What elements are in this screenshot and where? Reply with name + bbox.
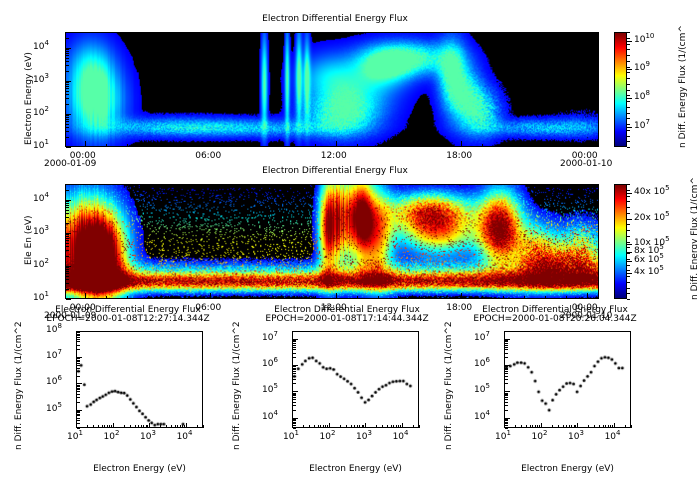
- y-minor-tick: [505, 369, 508, 370]
- y-tick-label: 107: [474, 333, 490, 343]
- x-minor-tick: [124, 425, 125, 428]
- x-tick-label: 101: [67, 432, 83, 442]
- y-minor-tick: [77, 339, 80, 340]
- colorbar-minor-tick: [627, 242, 630, 243]
- x-minor-tick: [210, 144, 211, 147]
- y-minor-tick: [77, 376, 80, 377]
- colorbar-tick-label: 40x 105: [634, 187, 670, 197]
- x-minor-tick: [521, 425, 522, 428]
- y-minor-tick: [66, 38, 69, 39]
- colorbar-minor-tick: [627, 38, 630, 39]
- colorbar-minor-tick: [627, 95, 630, 96]
- y-minor-tick: [293, 349, 296, 350]
- colorbar-tick-label: 10x 105: [634, 238, 670, 248]
- colorbar-minor-tick: [627, 61, 630, 62]
- panel4-epoch: EPOCH=2000-01-08T17:14:44.344Z: [252, 314, 442, 324]
- x-minor-tick: [315, 296, 316, 299]
- y-minor-tick: [77, 361, 80, 362]
- y-tick-label: 105: [46, 404, 62, 414]
- y-minor-tick: [505, 340, 508, 341]
- x-minor-tick: [378, 144, 379, 147]
- x-minor-tick: [419, 296, 420, 299]
- y-minor-tick: [66, 238, 69, 239]
- y-minor-tick: [77, 337, 80, 338]
- y-minor-tick: [293, 353, 296, 354]
- x-minor-tick: [231, 144, 232, 147]
- x-minor-tick: [539, 425, 540, 428]
- y-minor-tick: [505, 383, 508, 384]
- y-minor-tick: [505, 420, 508, 421]
- colorbar-minor-tick: [627, 101, 630, 102]
- x-minor-tick: [515, 425, 516, 428]
- y-minor-tick: [505, 393, 508, 394]
- y-minor-tick: [66, 269, 69, 270]
- panel1-plot-area: [65, 32, 599, 147]
- colorbar-tick-mark: [627, 98, 632, 99]
- colorbar-minor-tick: [627, 190, 630, 191]
- y-minor-tick: [66, 82, 69, 83]
- x-minor-tick: [325, 425, 326, 428]
- y-minor-tick: [77, 358, 80, 359]
- x-minor-tick: [135, 425, 136, 428]
- y-tick-label: 105: [474, 385, 490, 395]
- x-minor-tick: [127, 144, 128, 147]
- colorbar-minor-tick: [627, 224, 630, 225]
- y-minor-tick: [77, 388, 80, 389]
- x-minor-tick: [398, 296, 399, 299]
- x-minor-tick: [138, 425, 139, 428]
- x-minor-tick: [400, 425, 401, 428]
- x-minor-tick: [177, 425, 178, 428]
- colorbar-minor-tick: [627, 78, 630, 79]
- colorbar-minor-tick: [627, 236, 630, 237]
- y-minor-tick: [66, 223, 69, 224]
- y-minor-tick: [293, 347, 296, 348]
- y-minor-tick: [505, 395, 508, 396]
- x-minor-tick: [231, 296, 232, 299]
- y-minor-tick: [293, 373, 296, 374]
- y-minor-tick: [66, 276, 69, 277]
- y-minor-tick: [66, 283, 69, 284]
- y-minor-tick: [77, 386, 80, 387]
- colorbar-tick-label: 109: [634, 63, 650, 73]
- x-tick-label: 102: [104, 432, 120, 442]
- colorbar-tick-mark: [627, 69, 632, 70]
- y-minor-tick: [77, 415, 80, 416]
- colorbar-minor-tick: [627, 196, 630, 197]
- x-tick-mark: [504, 423, 505, 428]
- y-minor-tick: [66, 203, 69, 204]
- x-minor-tick: [566, 144, 567, 147]
- x-tick-mark: [541, 423, 542, 428]
- x-minor-tick: [107, 425, 108, 428]
- x-minor-tick: [106, 144, 107, 147]
- y-minor-tick: [293, 357, 296, 358]
- y-minor-tick: [505, 422, 508, 423]
- y-minor-tick: [505, 402, 508, 403]
- y-minor-tick: [505, 331, 508, 332]
- x-tick-mark: [186, 423, 187, 428]
- y-minor-tick: [293, 376, 296, 377]
- y-minor-tick: [77, 420, 80, 421]
- panel1-title: Electron Differential Energy Flux: [70, 14, 600, 24]
- colorbar-tick-mark: [627, 273, 632, 274]
- colorbar-minor-tick: [627, 107, 630, 108]
- x-minor-tick: [273, 296, 274, 299]
- colorbar-minor-tick: [627, 55, 630, 56]
- x-tick-label: 102: [320, 432, 336, 442]
- x-minor-tick: [530, 425, 531, 428]
- x-minor-tick: [294, 296, 295, 299]
- y-minor-tick: [66, 51, 69, 52]
- y-minor-tick: [293, 425, 296, 426]
- y-minor-tick: [66, 184, 69, 185]
- y-minor-tick: [77, 414, 80, 415]
- x-tick-label: 103: [140, 432, 156, 442]
- y-minor-tick: [505, 419, 508, 420]
- panel4-ylabel: n Diff. Energy Flux (1/(cm^2: [232, 321, 242, 450]
- y-minor-tick: [293, 423, 296, 424]
- y-minor-tick: [66, 131, 69, 132]
- y-minor-tick: [505, 366, 508, 367]
- x-minor-tick: [387, 425, 388, 428]
- y-minor-tick: [66, 91, 69, 92]
- x-minor-tick: [171, 425, 172, 428]
- x-tick-mark: [76, 423, 77, 428]
- panel1-ylabel: Electron Energy (eV): [24, 52, 34, 145]
- colorbar-minor-tick: [627, 207, 630, 208]
- y-minor-tick: [66, 279, 69, 280]
- x-tick-label: 101: [495, 432, 511, 442]
- x-minor-tick: [160, 425, 161, 428]
- y-minor-tick: [293, 422, 296, 423]
- x-minor-tick: [376, 425, 377, 428]
- x-minor-tick: [461, 296, 462, 299]
- x-minor-tick: [346, 425, 347, 428]
- x-minor-tick: [87, 425, 88, 428]
- x-minor-tick: [98, 425, 99, 428]
- colorbar-minor-tick: [627, 124, 630, 125]
- x-minor-tick: [85, 296, 86, 299]
- x-minor-tick: [398, 425, 399, 428]
- y-minor-tick: [293, 383, 296, 384]
- x-minor-tick: [363, 425, 364, 428]
- y-minor-tick: [505, 423, 508, 424]
- y-minor-tick: [293, 369, 296, 370]
- x-minor-tick: [393, 425, 394, 428]
- x-minor-tick: [563, 425, 564, 428]
- x-minor-tick: [309, 425, 310, 428]
- colorbar-minor-tick: [627, 136, 630, 137]
- x-minor-tick: [314, 425, 315, 428]
- y-minor-tick: [77, 389, 80, 390]
- colorbar-minor-tick: [627, 84, 630, 85]
- x-minor-tick: [148, 144, 149, 147]
- y-minor-tick: [66, 236, 69, 237]
- y-minor-tick: [66, 119, 69, 120]
- colorbar-minor-tick: [627, 32, 630, 33]
- y-minor-tick: [293, 368, 296, 369]
- panel3-ylabel: n Diff. Energy Flux (1/(cm^2: [14, 321, 24, 450]
- y-minor-tick: [505, 343, 508, 344]
- y-tick-label: 106: [262, 359, 278, 369]
- panel2-colorbar-label: n Diff. Energy Flux (1/(cm^: [690, 177, 697, 300]
- x-minor-tick: [362, 425, 363, 428]
- x-minor-tick: [354, 425, 355, 428]
- x-minor-tick: [175, 425, 176, 428]
- x-minor-tick: [625, 425, 626, 428]
- x-minor-tick: [184, 425, 185, 428]
- x-minor-tick: [535, 425, 536, 428]
- y-tick-label: 101: [33, 141, 49, 151]
- colorbar-minor-tick: [627, 113, 630, 114]
- y-minor-tick: [66, 124, 69, 125]
- x-minor-tick: [571, 425, 572, 428]
- x-minor-tick: [398, 144, 399, 147]
- x-minor-tick: [631, 425, 632, 428]
- y-minor-tick: [66, 207, 69, 208]
- colorbar-minor-tick: [627, 230, 630, 231]
- y-minor-tick: [66, 210, 69, 211]
- colorbar-minor-tick: [627, 118, 630, 119]
- x-minor-tick: [303, 425, 304, 428]
- panel2-ylabel: Ele En (eV): [24, 215, 34, 265]
- y-minor-tick: [66, 104, 69, 105]
- y-minor-tick: [505, 373, 508, 374]
- y-minor-tick: [66, 71, 69, 72]
- y-minor-tick: [293, 341, 296, 342]
- colorbar-tick-label: 4x 105: [634, 267, 664, 277]
- colorbar-minor-tick: [627, 265, 630, 266]
- x-minor-tick: [503, 296, 504, 299]
- y-minor-tick: [66, 240, 69, 241]
- x-minor-tick: [357, 296, 358, 299]
- colorbar-minor-tick: [627, 288, 630, 289]
- y-minor-tick: [293, 395, 296, 396]
- y-minor-tick: [66, 243, 69, 244]
- x-minor-tick: [566, 425, 567, 428]
- colorbar-minor-tick: [627, 201, 630, 202]
- y-tick-label: 105: [262, 385, 278, 395]
- y-minor-tick: [77, 365, 80, 366]
- x-minor-tick: [440, 144, 441, 147]
- colorbar-minor-tick: [627, 253, 630, 254]
- panel3-plot-area: [76, 331, 203, 428]
- y-minor-tick: [77, 371, 80, 372]
- x-minor-tick: [569, 425, 570, 428]
- y-minor-tick: [293, 343, 296, 344]
- y-minor-tick: [77, 411, 80, 412]
- x-minor-tick: [327, 425, 328, 428]
- x-minor-tick: [461, 144, 462, 147]
- y-minor-tick: [505, 410, 508, 411]
- panel1-colorbar: [614, 32, 627, 147]
- x-minor-tick: [608, 425, 609, 428]
- x-minor-tick: [552, 425, 553, 428]
- x-minor-tick: [336, 296, 337, 299]
- y-minor-tick: [505, 353, 508, 354]
- x-minor-tick: [391, 425, 392, 428]
- x-minor-tick: [143, 425, 144, 428]
- panel4-xlabel: Electron Energy (eV): [292, 464, 419, 474]
- y-minor-tick: [66, 246, 69, 247]
- panel4-plot-area: [292, 331, 419, 428]
- x-tick-mark: [577, 423, 578, 428]
- y-minor-tick: [505, 371, 508, 372]
- y-minor-tick: [293, 331, 296, 332]
- y-minor-tick: [293, 397, 296, 398]
- y-minor-tick: [77, 385, 80, 386]
- y-minor-tick: [66, 256, 69, 257]
- y-minor-tick: [293, 371, 296, 372]
- x-minor-tick: [180, 425, 181, 428]
- x-minor-tick: [378, 296, 379, 299]
- y-minor-tick: [77, 397, 80, 398]
- panel5-plot-area: [504, 331, 631, 428]
- x-minor-tick: [419, 144, 420, 147]
- colorbar-minor-tick: [627, 259, 630, 260]
- y-minor-tick: [505, 376, 508, 377]
- y-minor-tick: [293, 402, 296, 403]
- x-minor-tick: [566, 296, 567, 299]
- x-minor-tick: [382, 425, 383, 428]
- y-minor-tick: [293, 410, 296, 411]
- y-tick-label: 102: [33, 108, 49, 118]
- y-minor-tick: [77, 360, 80, 361]
- x-tick-label: 103: [356, 432, 372, 442]
- x-minor-tick: [106, 296, 107, 299]
- x-minor-tick: [320, 425, 321, 428]
- x-tick-label: 12:00: [321, 151, 347, 161]
- x-minor-tick: [294, 144, 295, 147]
- x-minor-tick: [524, 144, 525, 147]
- y-minor-tick: [505, 349, 508, 350]
- colorbar-tick-label: 107: [634, 121, 650, 131]
- x-minor-tick: [111, 425, 112, 428]
- y-tick-label: 108: [46, 325, 62, 335]
- y-minor-tick: [293, 399, 296, 400]
- y-minor-tick: [505, 397, 508, 398]
- y-tick-label: 101: [33, 293, 49, 303]
- y-minor-tick: [66, 127, 69, 128]
- y-tick-label: 106: [46, 377, 62, 387]
- colorbar-minor-tick: [627, 276, 630, 277]
- x-minor-tick: [558, 425, 559, 428]
- x-tick-label: 101: [283, 432, 299, 442]
- colorbar-tick-mark: [627, 261, 632, 262]
- y-minor-tick: [293, 394, 296, 395]
- colorbar-tick-label: 6x 105: [634, 255, 664, 265]
- x-minor-tick: [189, 296, 190, 299]
- x-minor-tick: [318, 425, 319, 428]
- x-minor-tick: [93, 425, 94, 428]
- x-minor-tick: [147, 425, 148, 428]
- x-minor-tick: [130, 425, 131, 428]
- x-minor-tick: [127, 296, 128, 299]
- y-tick-label: 107: [262, 333, 278, 343]
- x-minor-tick: [168, 296, 169, 299]
- colorbar-minor-tick: [627, 270, 630, 271]
- colorbar-tick-mark: [627, 244, 632, 245]
- x-minor-tick: [526, 425, 527, 428]
- colorbar-minor-tick: [627, 219, 630, 220]
- y-tick-label: 106: [474, 359, 490, 369]
- colorbar-minor-tick: [627, 130, 630, 131]
- y-tick-label: 102: [33, 260, 49, 270]
- y-minor-tick: [505, 399, 508, 400]
- x-minor-tick: [587, 296, 588, 299]
- colorbar-tick-mark: [627, 41, 632, 42]
- x-minor-tick: [440, 296, 441, 299]
- y-minor-tick: [66, 217, 69, 218]
- panel5-epoch: EPOCH=2000-01-08T20:26:04.344Z: [460, 314, 650, 324]
- y-minor-tick: [66, 94, 69, 95]
- x-tick-mark: [365, 423, 366, 428]
- y-minor-tick: [66, 267, 69, 268]
- y-minor-tick: [505, 368, 508, 369]
- panel3-xlabel: Electron Energy (eV): [76, 464, 203, 474]
- x-minor-tick: [605, 425, 606, 428]
- x-tick-mark: [292, 423, 293, 428]
- x-minor-tick: [351, 425, 352, 428]
- y-minor-tick: [66, 271, 69, 272]
- colorbar-minor-tick: [627, 90, 630, 91]
- panel1-colorbar-label: n Diff. Energy Flux (1/(cm^: [678, 25, 688, 148]
- x-tick-label: 102: [532, 432, 548, 442]
- colorbar-minor-tick: [627, 72, 630, 73]
- colorbar-minor-tick: [627, 184, 630, 185]
- x-minor-tick: [148, 296, 149, 299]
- y-minor-tick: [66, 289, 69, 290]
- colorbar-minor-tick: [627, 282, 630, 283]
- colorbar-tick-mark: [627, 193, 632, 194]
- y-minor-tick: [66, 190, 69, 191]
- y-tick-label: 104: [33, 42, 49, 52]
- y-minor-tick: [66, 117, 69, 118]
- colorbar-minor-tick: [627, 247, 630, 248]
- x-minor-tick: [104, 425, 105, 428]
- x-minor-tick: [252, 144, 253, 147]
- y-minor-tick: [66, 88, 69, 89]
- y-minor-tick: [77, 345, 80, 346]
- colorbar-minor-tick: [627, 49, 630, 50]
- x-minor-tick: [168, 144, 169, 147]
- y-tick-label: 104: [33, 194, 49, 204]
- panel2-title: Electron Differential Energy Flux: [70, 166, 600, 176]
- x-minor-tick: [574, 425, 575, 428]
- x-minor-tick: [419, 425, 420, 428]
- colorbar-tick-label: 20x 105: [634, 213, 670, 223]
- y-minor-tick: [293, 393, 296, 394]
- y-minor-tick: [66, 213, 69, 214]
- y-minor-tick: [66, 115, 69, 116]
- y-minor-tick: [66, 84, 69, 85]
- colorbar-minor-tick: [627, 44, 630, 45]
- x-minor-tick: [340, 425, 341, 428]
- y-minor-tick: [66, 137, 69, 138]
- y-minor-tick: [505, 345, 508, 346]
- colorbar-tick-label: 1010: [634, 35, 654, 45]
- x-tick-label: 104: [393, 432, 409, 442]
- y-minor-tick: [505, 357, 508, 358]
- y-minor-tick: [66, 61, 69, 62]
- y-minor-tick: [77, 335, 80, 336]
- x-minor-tick: [594, 425, 595, 428]
- x-minor-tick: [323, 425, 324, 428]
- y-minor-tick: [77, 363, 80, 364]
- x-tick-label: 103: [568, 432, 584, 442]
- y-minor-tick: [66, 49, 69, 50]
